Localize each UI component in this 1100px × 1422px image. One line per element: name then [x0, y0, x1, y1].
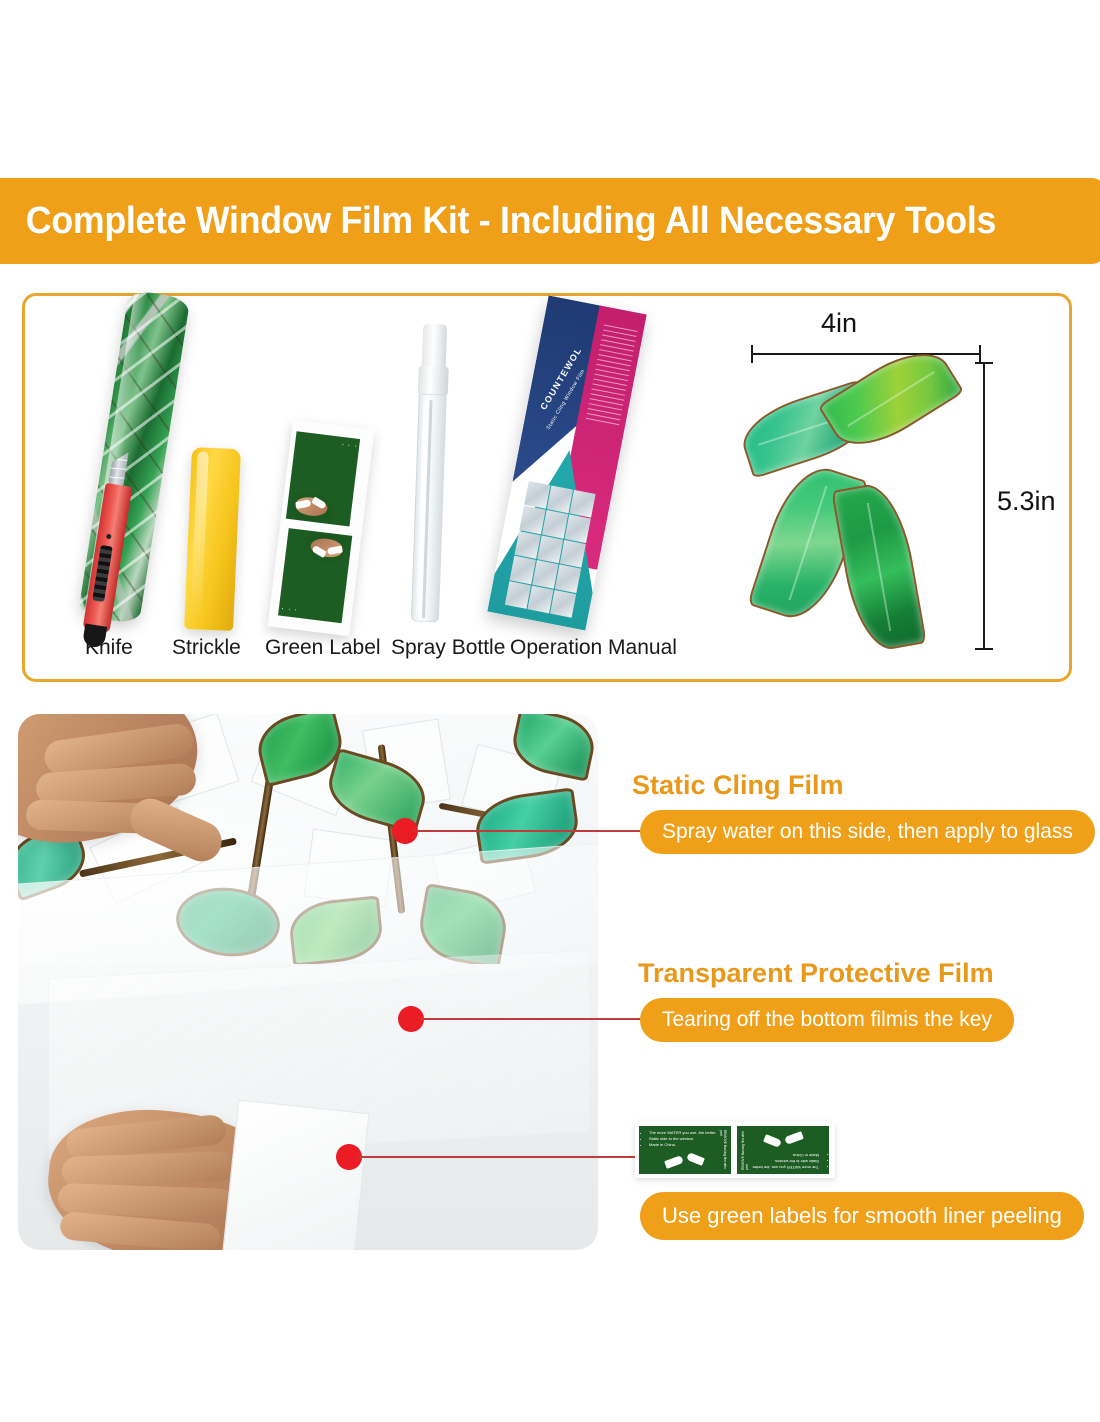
callout-green-label-2: The more WATER you use, the better. Stat… — [737, 1126, 829, 1174]
label-line-2: Static side to the window. — [349, 431, 360, 437]
tools-photo-stage: The more WATER you use, the better. Stat… — [25, 296, 685, 636]
application-photo — [18, 714, 598, 1250]
green-label-top: The more WATER you use, the better. Stat… — [286, 431, 360, 526]
leaf-lower-right — [831, 479, 927, 654]
peel-hand-icon-4 — [759, 1130, 803, 1146]
label-line-1: The more WATER you use, the better. — [342, 431, 356, 436]
squeegee-icon — [184, 447, 241, 631]
cl2-line2: Static side to the window. — [737, 1158, 819, 1164]
callout-title-1: Static Cling Film — [632, 770, 844, 801]
leaf-motif-icon — [741, 358, 971, 650]
green-label-icon: The more WATER you use, the better. Stat… — [268, 420, 375, 636]
callout-title-2: Transparent Protective Film — [638, 958, 994, 989]
label-line-3: Made in China. — [355, 431, 360, 438]
tools-panel: The more WATER you use, the better. Stat… — [22, 293, 1072, 682]
tool-labels-row: Knife Strickle Green Label Spray Bottle … — [55, 636, 695, 676]
dimension-width-label: 4in — [821, 308, 857, 339]
tool-label-knife: Knife — [85, 636, 133, 660]
green-label-top-text: The more WATER you use, the better. Stat… — [342, 431, 360, 443]
tool-label-strickle: Strickle — [172, 636, 241, 660]
tool-label-spray-bottle: Spray Bottle — [391, 636, 505, 660]
dimension-diagram: 4in 5.3in — [725, 306, 1055, 676]
label-line-3b: Made in China. — [278, 616, 283, 623]
callout-badge-2[interactable]: Tearing off the bottom filmis the key — [640, 998, 1014, 1042]
callout-badge-3[interactable]: Use green labels for smooth liner peelin… — [640, 1192, 1084, 1240]
cl1-tab: REMOVE Backing film after peel — [719, 1130, 727, 1174]
callout-badge-1[interactable]: Spray water on this side, then apply to … — [640, 810, 1095, 854]
callout-line-3 — [358, 1156, 640, 1158]
tool-label-green-label: Green Label — [265, 636, 381, 660]
spray-bottle-icon — [408, 323, 452, 624]
manual-box-icon: COUNTEWOL Static Cling Window Film — [487, 295, 647, 630]
finger-b2 — [62, 1151, 235, 1187]
green-label-bottom-text: The more WATER you use, the better. Stat… — [278, 611, 296, 623]
peel-hand-icon-2 — [310, 537, 344, 559]
header-banner: Complete Window Film Kit - Including All… — [0, 178, 1100, 264]
dimension-height-label: 5.3in — [997, 486, 1056, 517]
spray-collar — [418, 366, 449, 397]
cl2-tab: REMOVE Backing film after peel — [741, 1126, 749, 1170]
callout-green-labels-image: The more WATER you use, the better. Stat… — [635, 1122, 835, 1178]
liner-corner — [222, 1100, 369, 1250]
peel-hand-icon — [295, 496, 329, 518]
dimension-height-line — [983, 362, 985, 650]
peel-hand-icon-3 — [665, 1154, 709, 1170]
callout-green-label-1: The more WATER you use, the better. Stat… — [639, 1126, 731, 1174]
label-line-1b: The more WATER you use, the better. — [282, 618, 296, 623]
callout-line-2 — [420, 1018, 642, 1020]
cl2-line1: The more WATER you use, the better. — [737, 1164, 819, 1170]
callout-line-1 — [414, 830, 640, 832]
tool-label-operation-manual: Operation Manual — [510, 636, 677, 660]
dimension-width-line — [751, 353, 981, 355]
page-title: Complete Window Film Kit - Including All… — [0, 200, 996, 243]
green-label-bottom: The more WATER you use, the better. Stat… — [278, 528, 352, 623]
label-line-2b: Static side to the window. — [278, 617, 289, 623]
